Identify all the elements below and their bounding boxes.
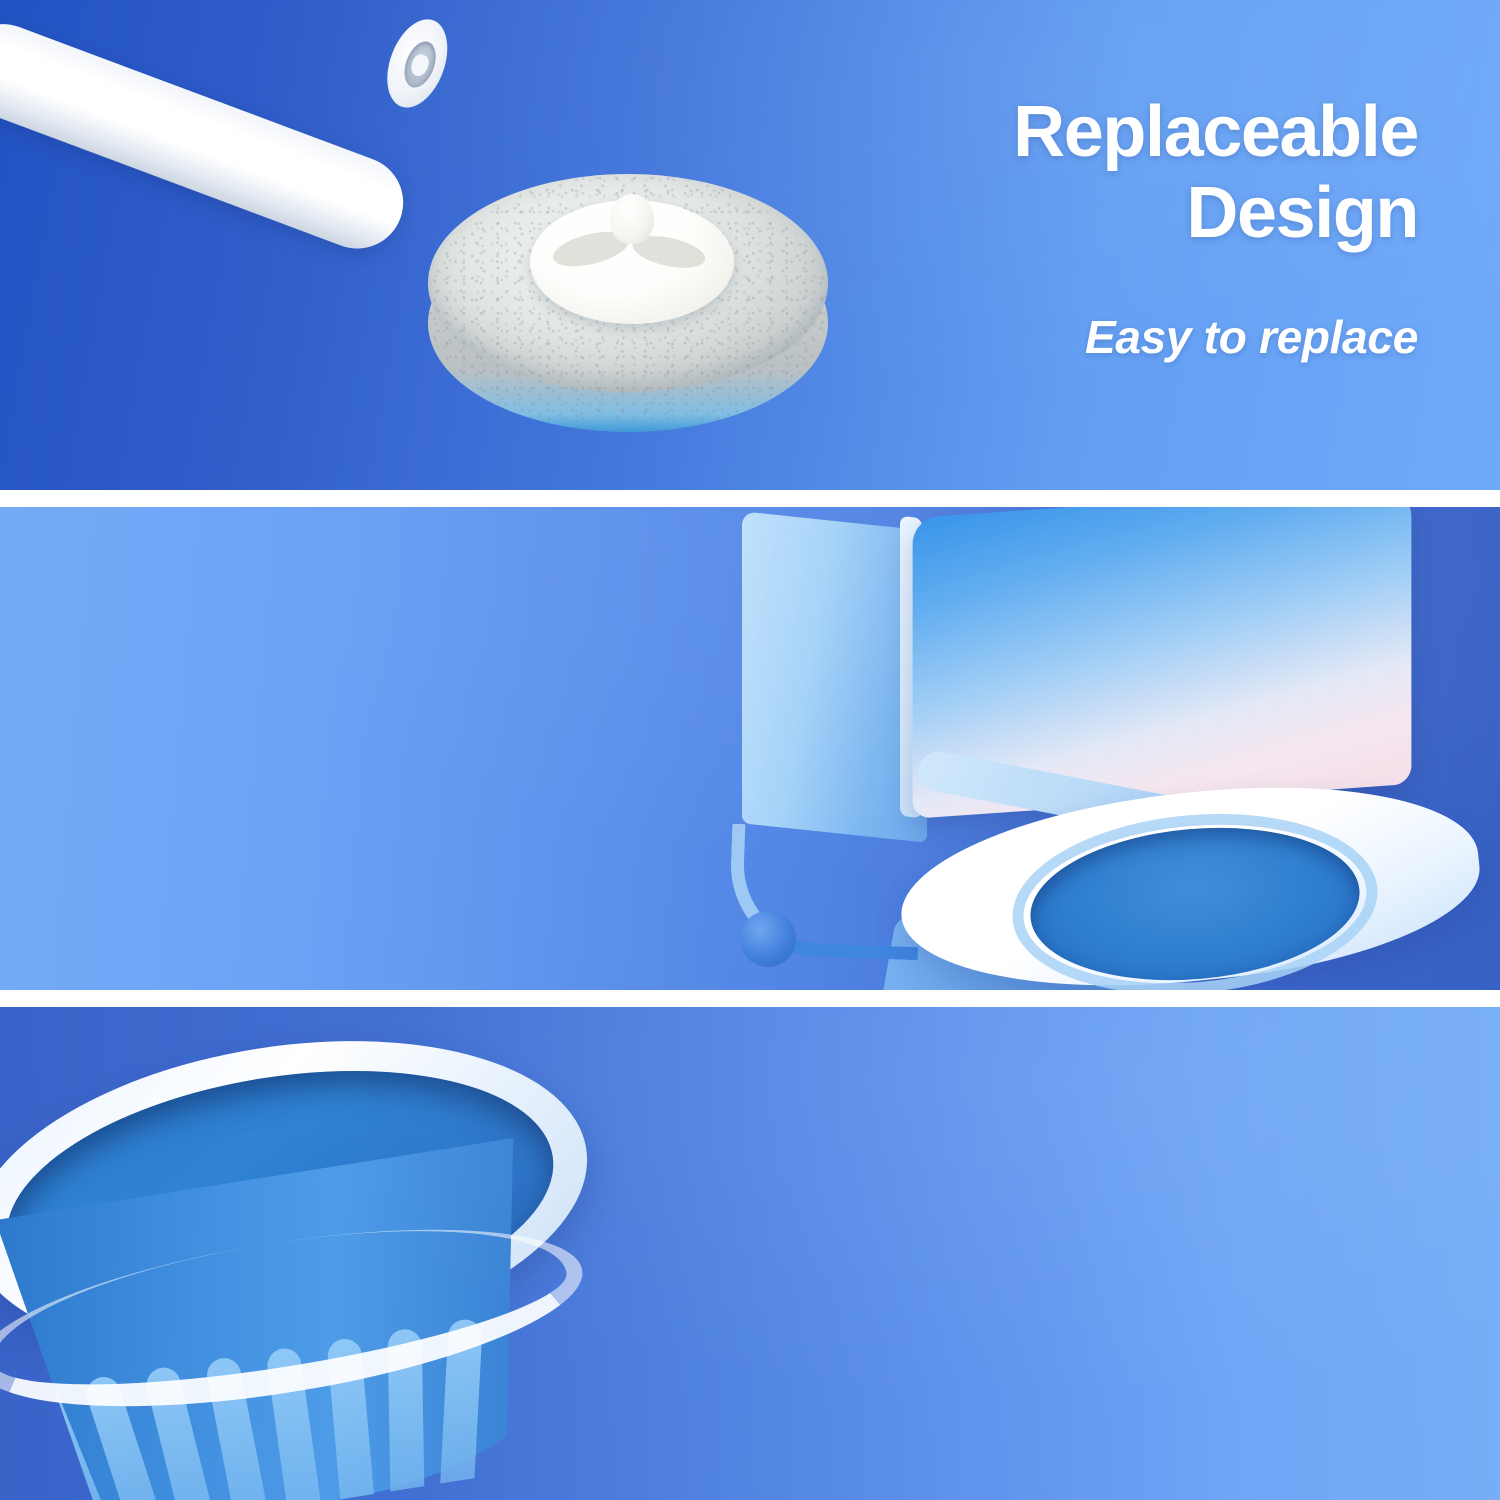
sponge-pad-illustration (424, 168, 834, 448)
panel-1-subline: Easy to replace (1013, 309, 1418, 367)
panel-higher-cleaning-efficiency: Higher cleaning Efficiency Multiple angl… (0, 507, 1500, 990)
panel-replaceable-design: Replaceable Design Easy to replace (0, 0, 1500, 490)
trash-bin-illustration (0, 1047, 630, 1500)
product-feature-infographic: Replaceable Design Easy to replace H (0, 0, 1500, 1500)
shutoff-valve (740, 911, 796, 967)
panel-1-text-block: Replaceable Design Easy to replace (1013, 92, 1418, 367)
toilet-illustration (700, 507, 1500, 990)
cap-center-nub (610, 194, 654, 244)
panel-1-headline: Replaceable Design (1013, 92, 1418, 253)
panel-one-click-discard: One-click discard Clean and hygienic (0, 1007, 1500, 1500)
